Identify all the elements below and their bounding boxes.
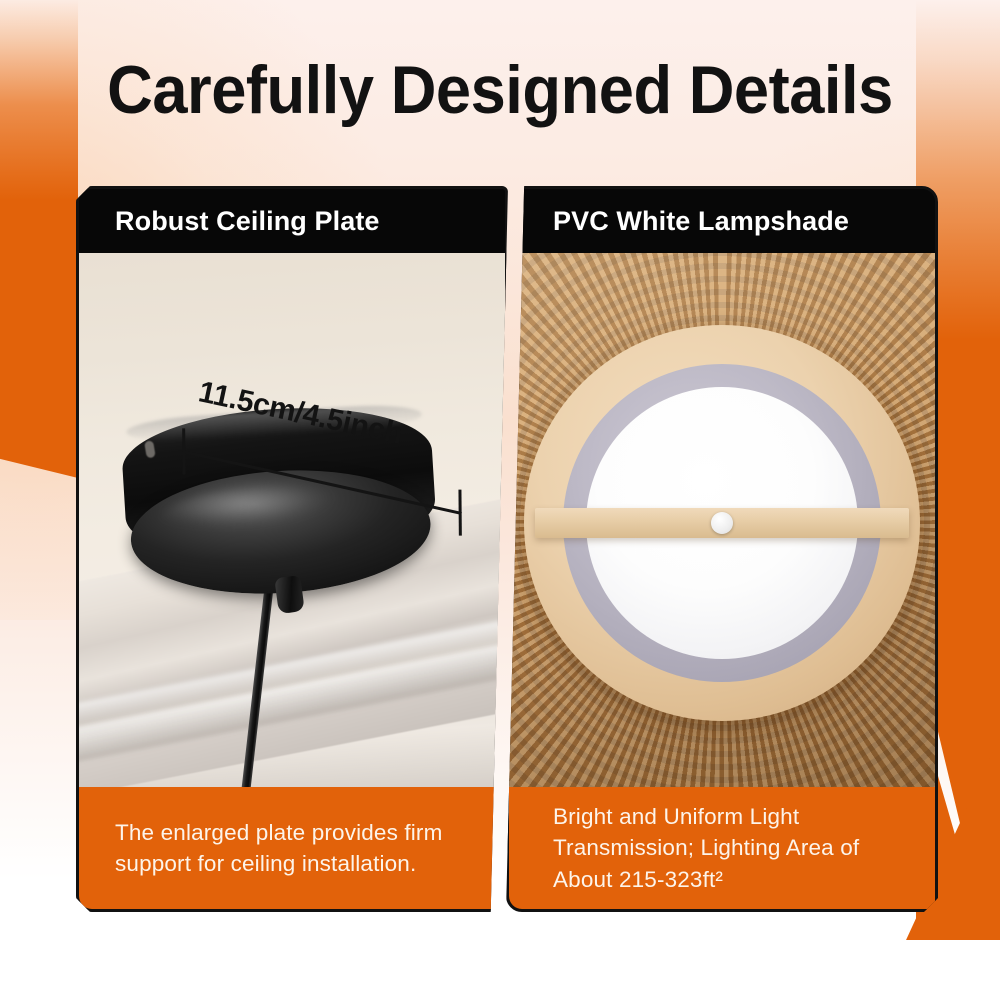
infographic-canvas: Carefully Designed Details Robust Ceilin… [0,0,1000,1000]
plate-cord-grip [274,575,304,614]
card-title: Robust Ceiling Plate [79,206,380,237]
page-title: Carefully Designed Details [35,56,965,124]
product-photo-lampshade [509,253,935,793]
card-header-lampshade: PVC White Lampshade [509,189,935,253]
detail-card-lampshade: PVC White Lampshade Bright and Uniform L… [506,186,938,912]
card-title: PVC White Lampshade [509,206,849,237]
card-header-ceiling-plate: Robust Ceiling Plate [79,189,505,253]
card-caption-text: The enlarged plate provides firm support… [79,817,505,880]
center-screw-cap [711,512,733,534]
card-caption-ceiling-plate: The enlarged plate provides firm support… [79,787,505,909]
detail-card-ceiling-plate: Robust Ceiling Plate 11.5cm/4.5inch [76,186,508,912]
card-caption-lampshade: Bright and Uniform Light Transmission; L… [509,787,935,909]
product-photo-ceiling-plate: 11.5cm/4.5inch [79,253,505,793]
card-caption-text: Bright and Uniform Light Transmission; L… [509,801,935,896]
dimension-tick-left [182,428,185,474]
bottom-white-strip [0,940,1000,1000]
